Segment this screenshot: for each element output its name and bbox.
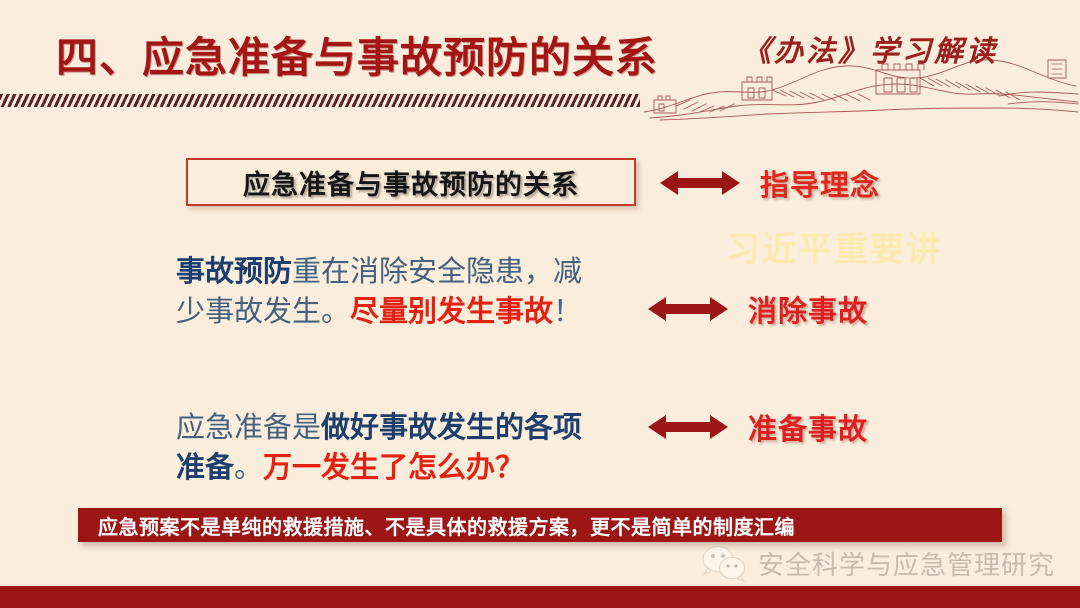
p2-plain-2: 少事故发生。 [176, 296, 350, 328]
hatched-divider [0, 94, 640, 107]
relation-label-1: 指导理念 [760, 162, 880, 204]
paragraph-emergency-preparedness: 应急准备是做好事故发生的各项 准备。万一发生了怎么办？ [176, 408, 646, 488]
page-title: 四、应急准备与事故预防的关系 [56, 24, 658, 85]
wechat-watermark-label: 安全科学与应急管理研究 [758, 545, 1055, 582]
relation-label-2: 消除事故 [748, 288, 868, 330]
heading-box: 应急准备与事故预防的关系 [186, 158, 636, 206]
bottom-banner-text: 应急预案不是单纯的救援措施、不是具体的救援方案，更不是简单的制度汇编 [78, 511, 795, 540]
p3-bold-navy-1: 做好事故发生的各项 [321, 412, 582, 444]
paragraph-accident-prevention: 事故预防重在消除安全隐患，减 少事故发生。尽量别发生事故！ [176, 252, 646, 332]
footer-bar [0, 586, 1080, 608]
slide-header: 四、应急准备与事故预防的关系 《办法》学习解读 [0, 0, 1080, 122]
script-subtitle: 《办法》学习解读 [742, 28, 998, 70]
yellow-watermark-text: 习近平重要讲 [726, 222, 942, 271]
relation-row-3: 准备事故 [646, 406, 868, 448]
wechat-icon [700, 543, 748, 583]
p3-plain-1: 应急准备是 [176, 412, 321, 444]
relation-label-3: 准备事故 [748, 406, 868, 448]
relation-row-2: 消除事故 [646, 288, 868, 330]
p3-plain-2: 。 [234, 452, 263, 484]
p2-bold-red: 尽量别发生事故 [350, 296, 553, 328]
slide-root: 四、应急准备与事故预防的关系 《办法》学习解读 应急准备与事故预防的关系 指导理… [0, 0, 1080, 608]
p2-bold-navy: 事故预防 [176, 256, 292, 288]
double-arrow-icon [646, 412, 730, 442]
p2-plain-3: ！ [553, 296, 582, 328]
heading-box-label: 应急准备与事故预防的关系 [243, 163, 579, 202]
p3-bold-navy-2: 准备 [176, 452, 234, 484]
double-arrow-icon [646, 294, 730, 324]
bottom-banner: 应急预案不是单纯的救援措施、不是具体的救援方案，更不是简单的制度汇编 [78, 508, 1002, 542]
p2-plain-1: 重在消除安全隐患，减 [292, 256, 582, 288]
double-arrow-icon [658, 168, 742, 198]
p3-bold-red: 万一发生了怎么办？ [263, 452, 524, 484]
wechat-watermark: 安全科学与应急管理研究 [700, 543, 1055, 583]
relation-row-1: 指导理念 [658, 162, 880, 204]
